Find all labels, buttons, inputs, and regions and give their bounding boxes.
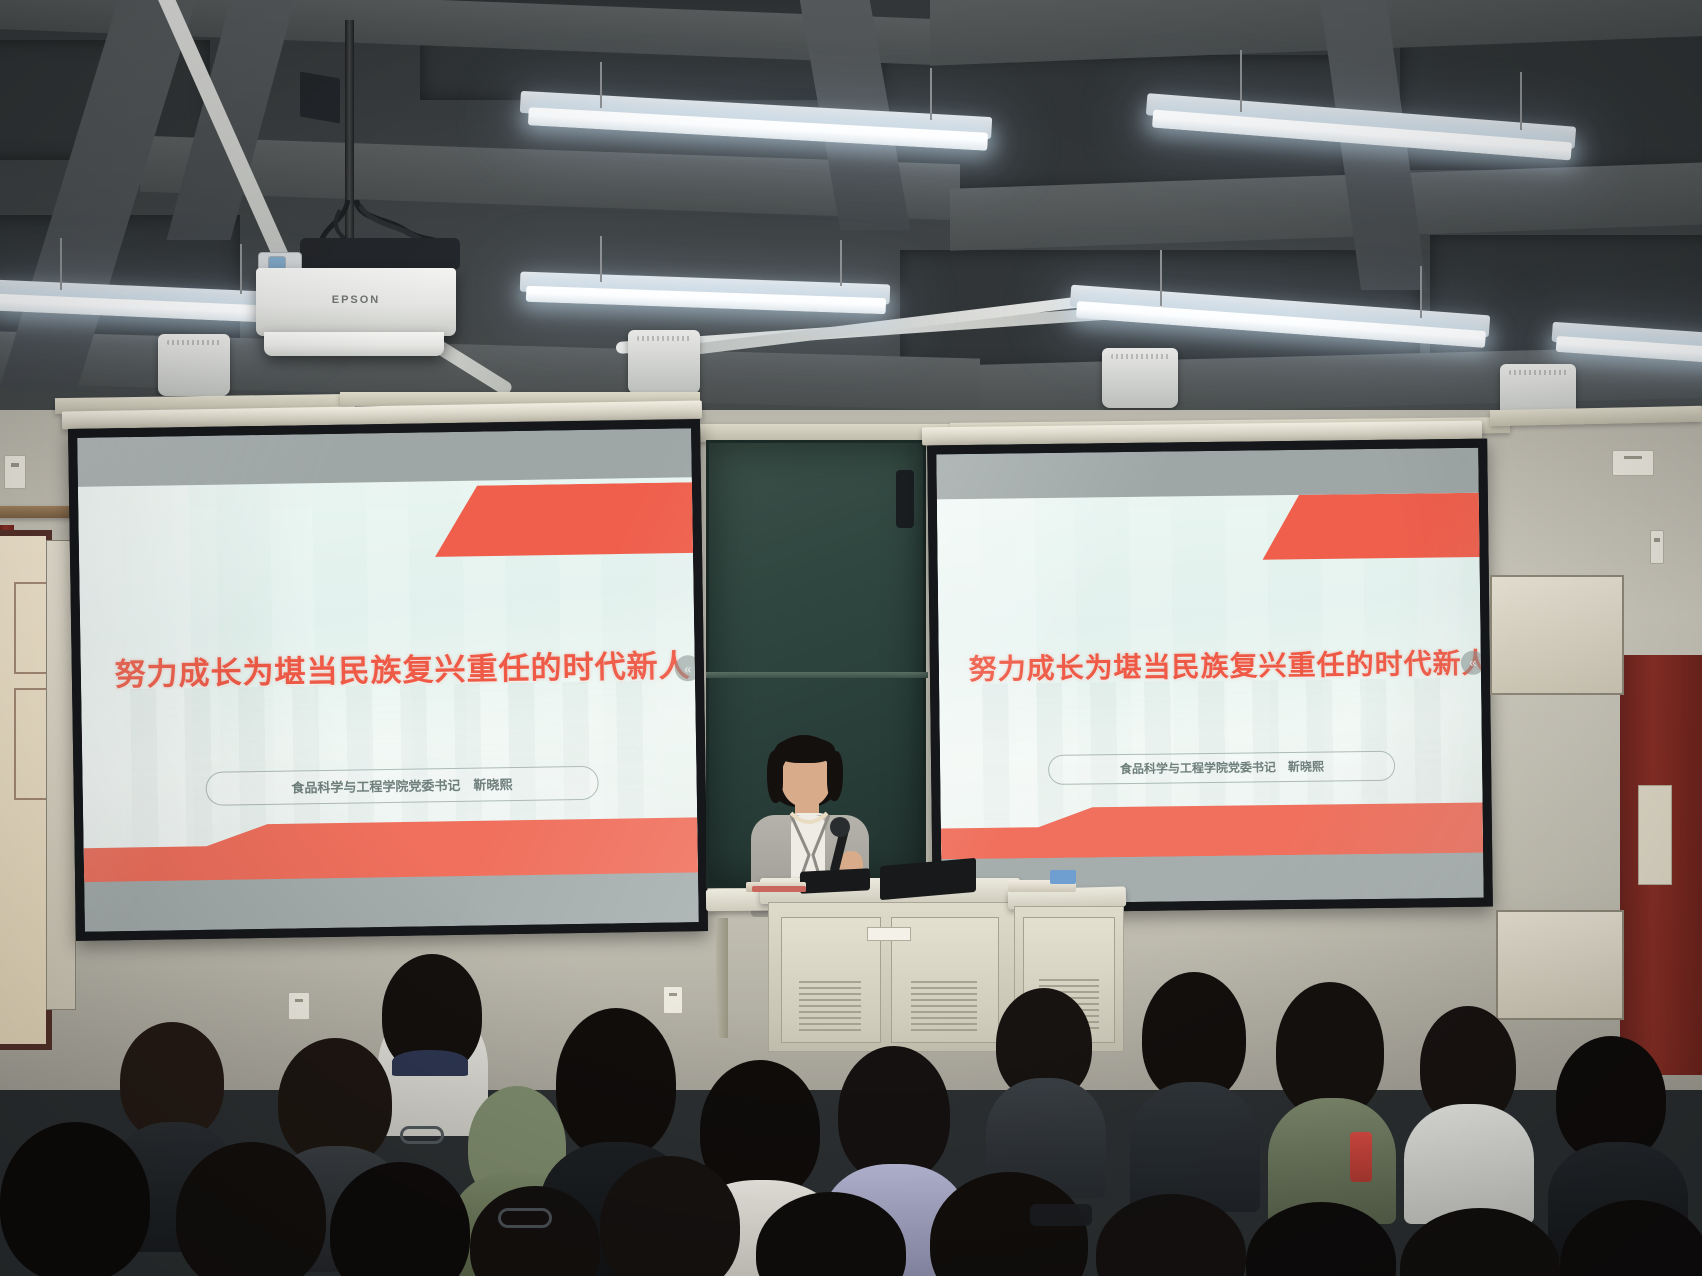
projector-brand-label: EPSON [256, 294, 456, 306]
chalk-rail [706, 672, 928, 678]
lecture-hall-photo: EPSON 努 [0, 0, 1702, 1276]
ceiling-speaker [158, 334, 230, 396]
left-projection-screen[interactable]: 努力成长为堪当民族复兴重任的时代新人 食品科学与工程学院党委书记 靳晓熙 « [68, 419, 708, 941]
podium-console [800, 868, 870, 894]
slide-nav-prev-chip-left[interactable]: « [675, 655, 699, 681]
slide-nav-prev-chip-right[interactable]: « [1461, 650, 1484, 674]
curtain-rod [0, 506, 72, 518]
podium-label-plate [867, 927, 911, 941]
ceiling-speaker [628, 330, 700, 394]
presenter-hair-side [827, 751, 843, 801]
slide-ribbon-bottom [941, 799, 1484, 860]
slide-title-right: 努力成长为堪当民族复兴重任的时代新人 [968, 641, 1483, 687]
presenter-hair-side [767, 751, 783, 803]
slide-ribbon-top [1262, 493, 1484, 595]
audience-person-collar [392, 1050, 468, 1076]
ceiling-speaker [1102, 348, 1178, 408]
slide-left: 努力成长为堪当民族复兴重任的时代新人 食品科学与工程学院党委书记 靳晓熙 « [77, 428, 699, 932]
water-bottle [1350, 1132, 1372, 1182]
microphone-head [830, 817, 850, 837]
audience-person-head [556, 1008, 676, 1158]
board-clip [896, 470, 914, 528]
eyeglasses [498, 1208, 552, 1228]
slide-subtitle-text-right: 食品科学与工程学院党委书记 靳晓熙 [1120, 758, 1324, 777]
slide-subtitle-pill-left: 食品科学与工程学院党委书记 靳晓熙 [205, 766, 598, 806]
presenter-fringe [775, 737, 835, 763]
slide-ribbon-bottom [83, 814, 698, 883]
slide-ribbon-top [434, 482, 699, 595]
wall-outlet [1612, 450, 1654, 476]
slide-right: 努力成长为堪当民族复兴重任的时代新人 食品科学与工程学院党委书记 靳晓熙 « [936, 448, 1483, 905]
presenter-necklace [787, 811, 831, 835]
audience-person [1404, 1104, 1534, 1224]
book-edge [752, 886, 806, 892]
blue-item-on-cabinet [1050, 870, 1076, 884]
sunglasses [1030, 1204, 1092, 1226]
slide-subtitle-text-left: 食品科学与工程学院党委书记 靳晓熙 [291, 774, 512, 796]
wall-window-right [1490, 575, 1624, 695]
ceiling-bracket [300, 71, 340, 123]
audience-person-head [838, 1046, 950, 1182]
eyeglasses [400, 1126, 444, 1144]
audience [0, 946, 1702, 1276]
ceiling: EPSON [0, 0, 1702, 430]
audience-person-head [0, 1122, 150, 1276]
slide-title-left: 努力成长为堪当民族复兴重任的时代新人 [114, 641, 691, 695]
right-projection-screen[interactable]: 努力成长为堪当民族复兴重任的时代新人 食品科学与工程学院党委书记 靳晓熙 « [927, 439, 1493, 914]
wall-outlet [4, 455, 26, 489]
wall-switch [1650, 530, 1664, 564]
audience-person [1130, 1082, 1260, 1212]
slide-subtitle-pill-right: 食品科学与工程学院党委书记 靳晓熙 [1048, 750, 1395, 784]
